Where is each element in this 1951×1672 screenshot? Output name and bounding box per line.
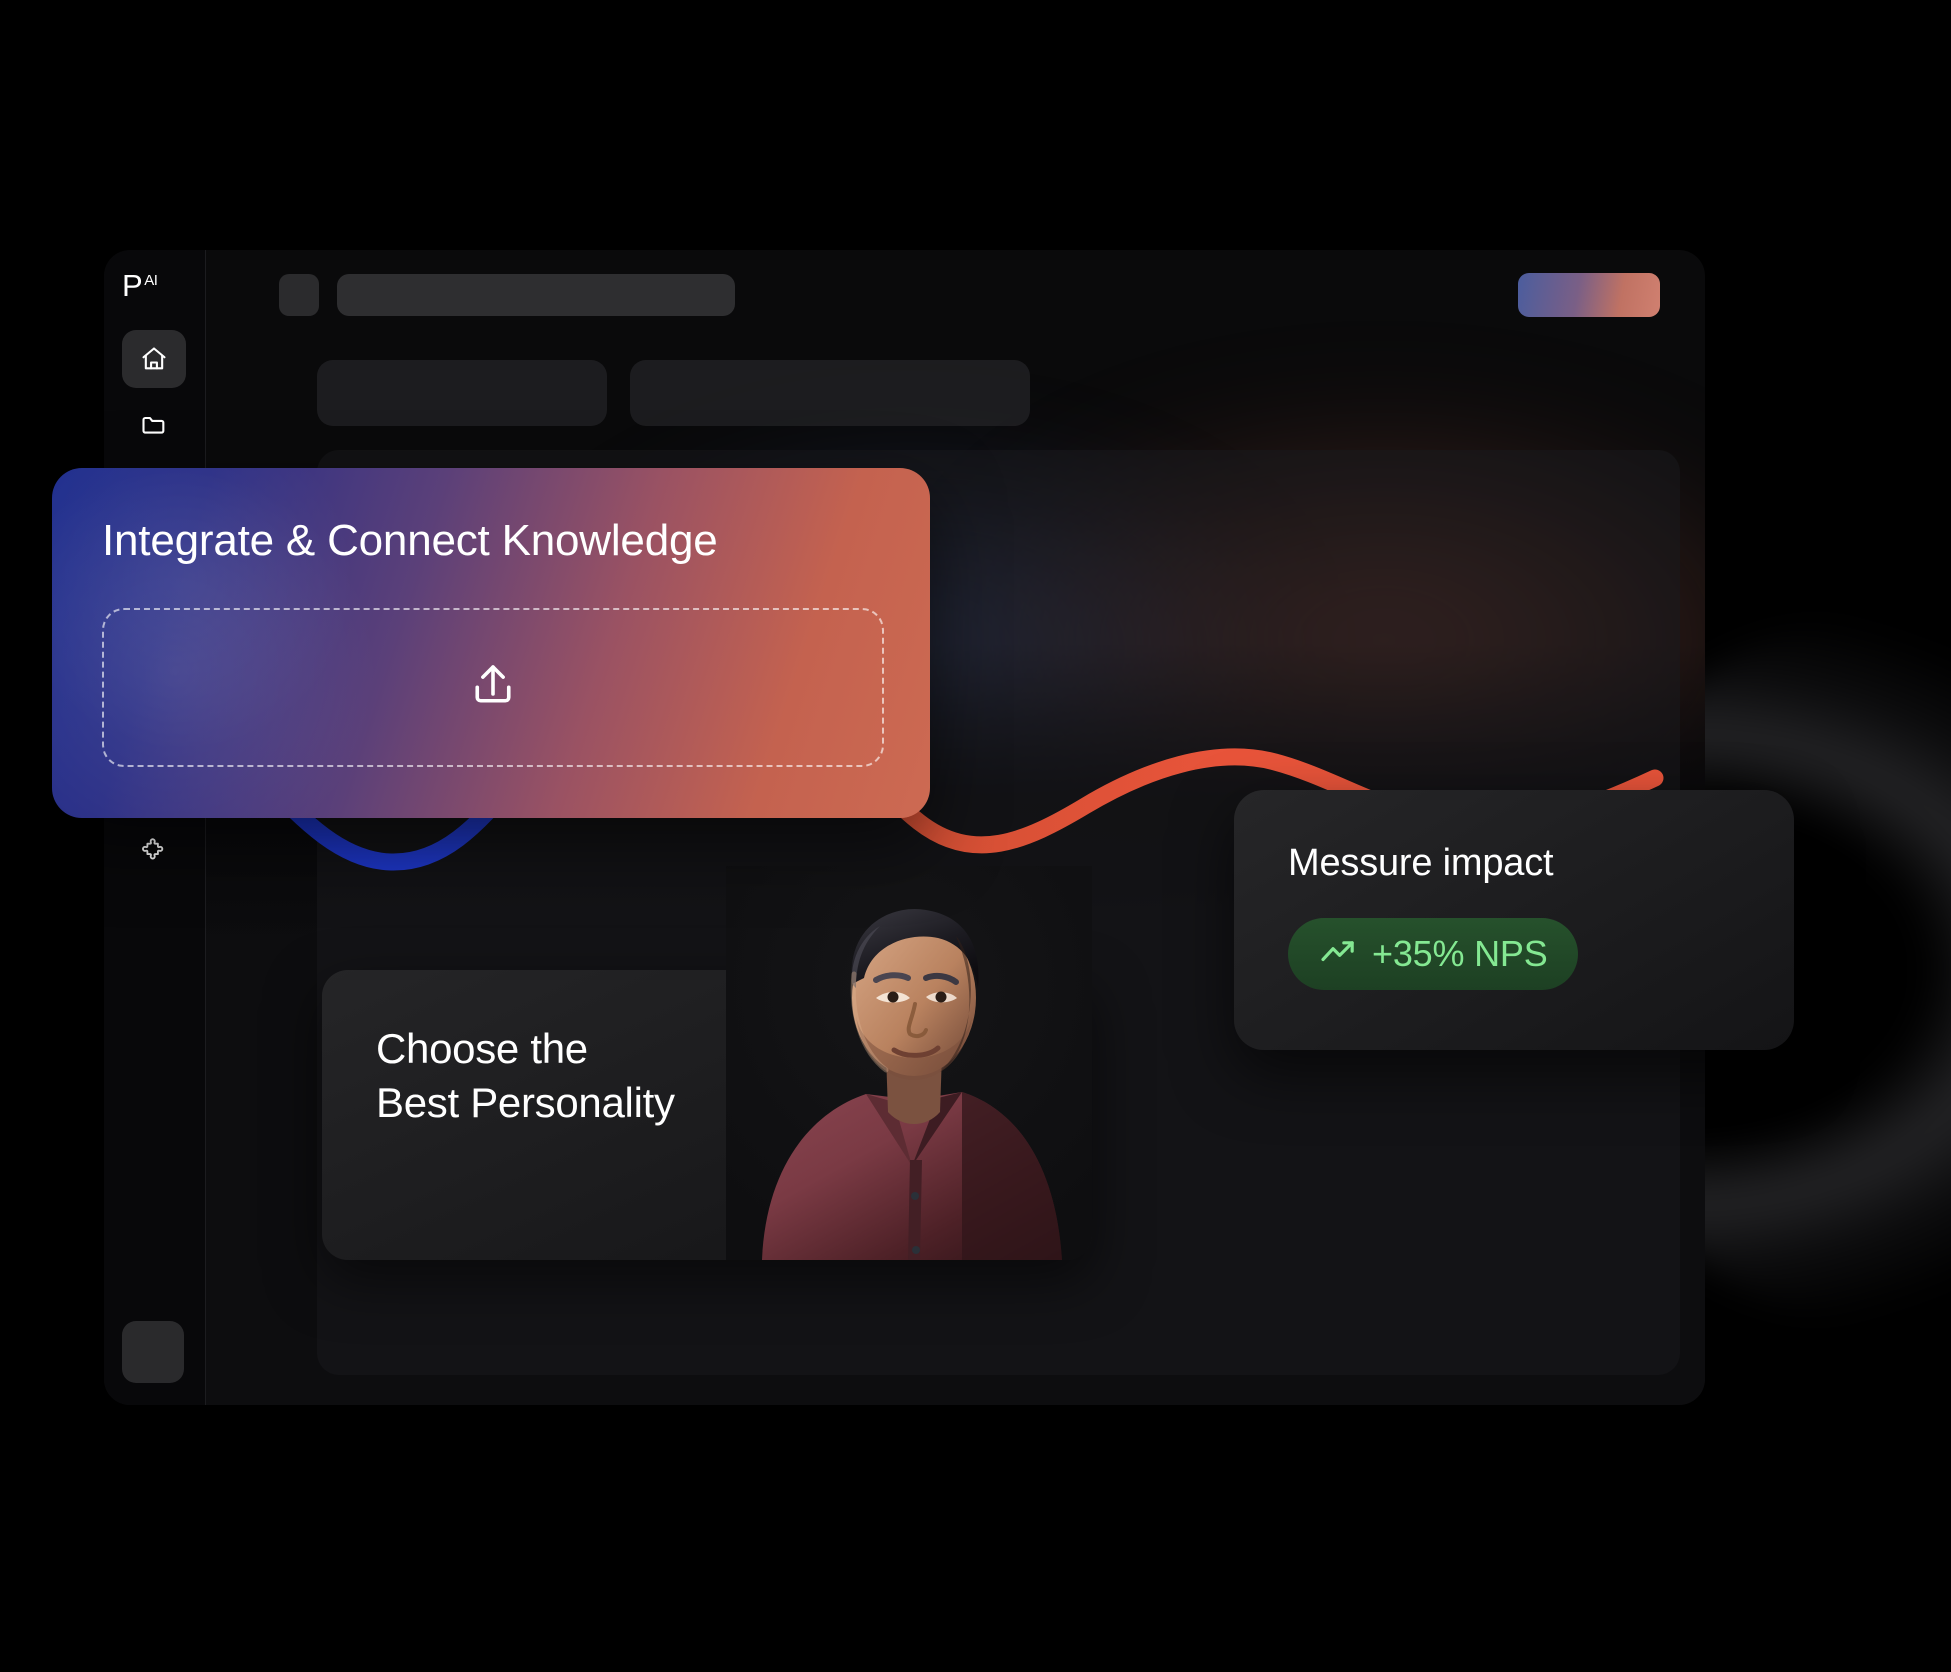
primary-cta-button[interactable] — [1518, 273, 1660, 317]
trending-up-icon — [1318, 932, 1358, 977]
sidebar: PAI — [104, 250, 206, 1405]
logo-letter: P — [122, 268, 142, 303]
card-impact-title: Messure impact — [1288, 842, 1553, 885]
card-personality-title: Choose the Best Personality — [376, 1022, 675, 1130]
home-icon — [140, 345, 168, 373]
folder-icon — [140, 411, 168, 439]
screenshot-stage: PAI — [0, 0, 1951, 1672]
puzzle-icon — [141, 836, 167, 862]
portrait-photo — [726, 866, 1092, 1260]
card-knowledge-title: Integrate & Connect Knowledge — [102, 516, 718, 566]
topbar — [205, 250, 1705, 338]
logo-superscript: AI — [144, 272, 157, 289]
menu-button[interactable] — [279, 274, 319, 316]
upload-dropzone[interactable] — [102, 608, 884, 767]
skeleton-card-right — [630, 360, 1030, 426]
app-logo[interactable]: PAI — [122, 270, 157, 301]
skeleton-card-left — [317, 360, 607, 426]
sidebar-item-integrations[interactable] — [122, 820, 186, 878]
status-badge: +35% NPS — [1288, 918, 1578, 990]
card-integrate-knowledge[interactable]: Integrate & Connect Knowledge — [52, 468, 930, 818]
upload-icon — [466, 658, 520, 717]
search-input[interactable] — [337, 274, 735, 316]
nps-value: +35% NPS — [1372, 933, 1548, 975]
sidebar-item-home[interactable] — [122, 330, 186, 388]
sidebar-item-folder[interactable] — [122, 396, 186, 454]
card-measure-impact[interactable]: Messure impact +35% NPS — [1234, 790, 1794, 1050]
avatar[interactable] — [122, 1321, 184, 1383]
